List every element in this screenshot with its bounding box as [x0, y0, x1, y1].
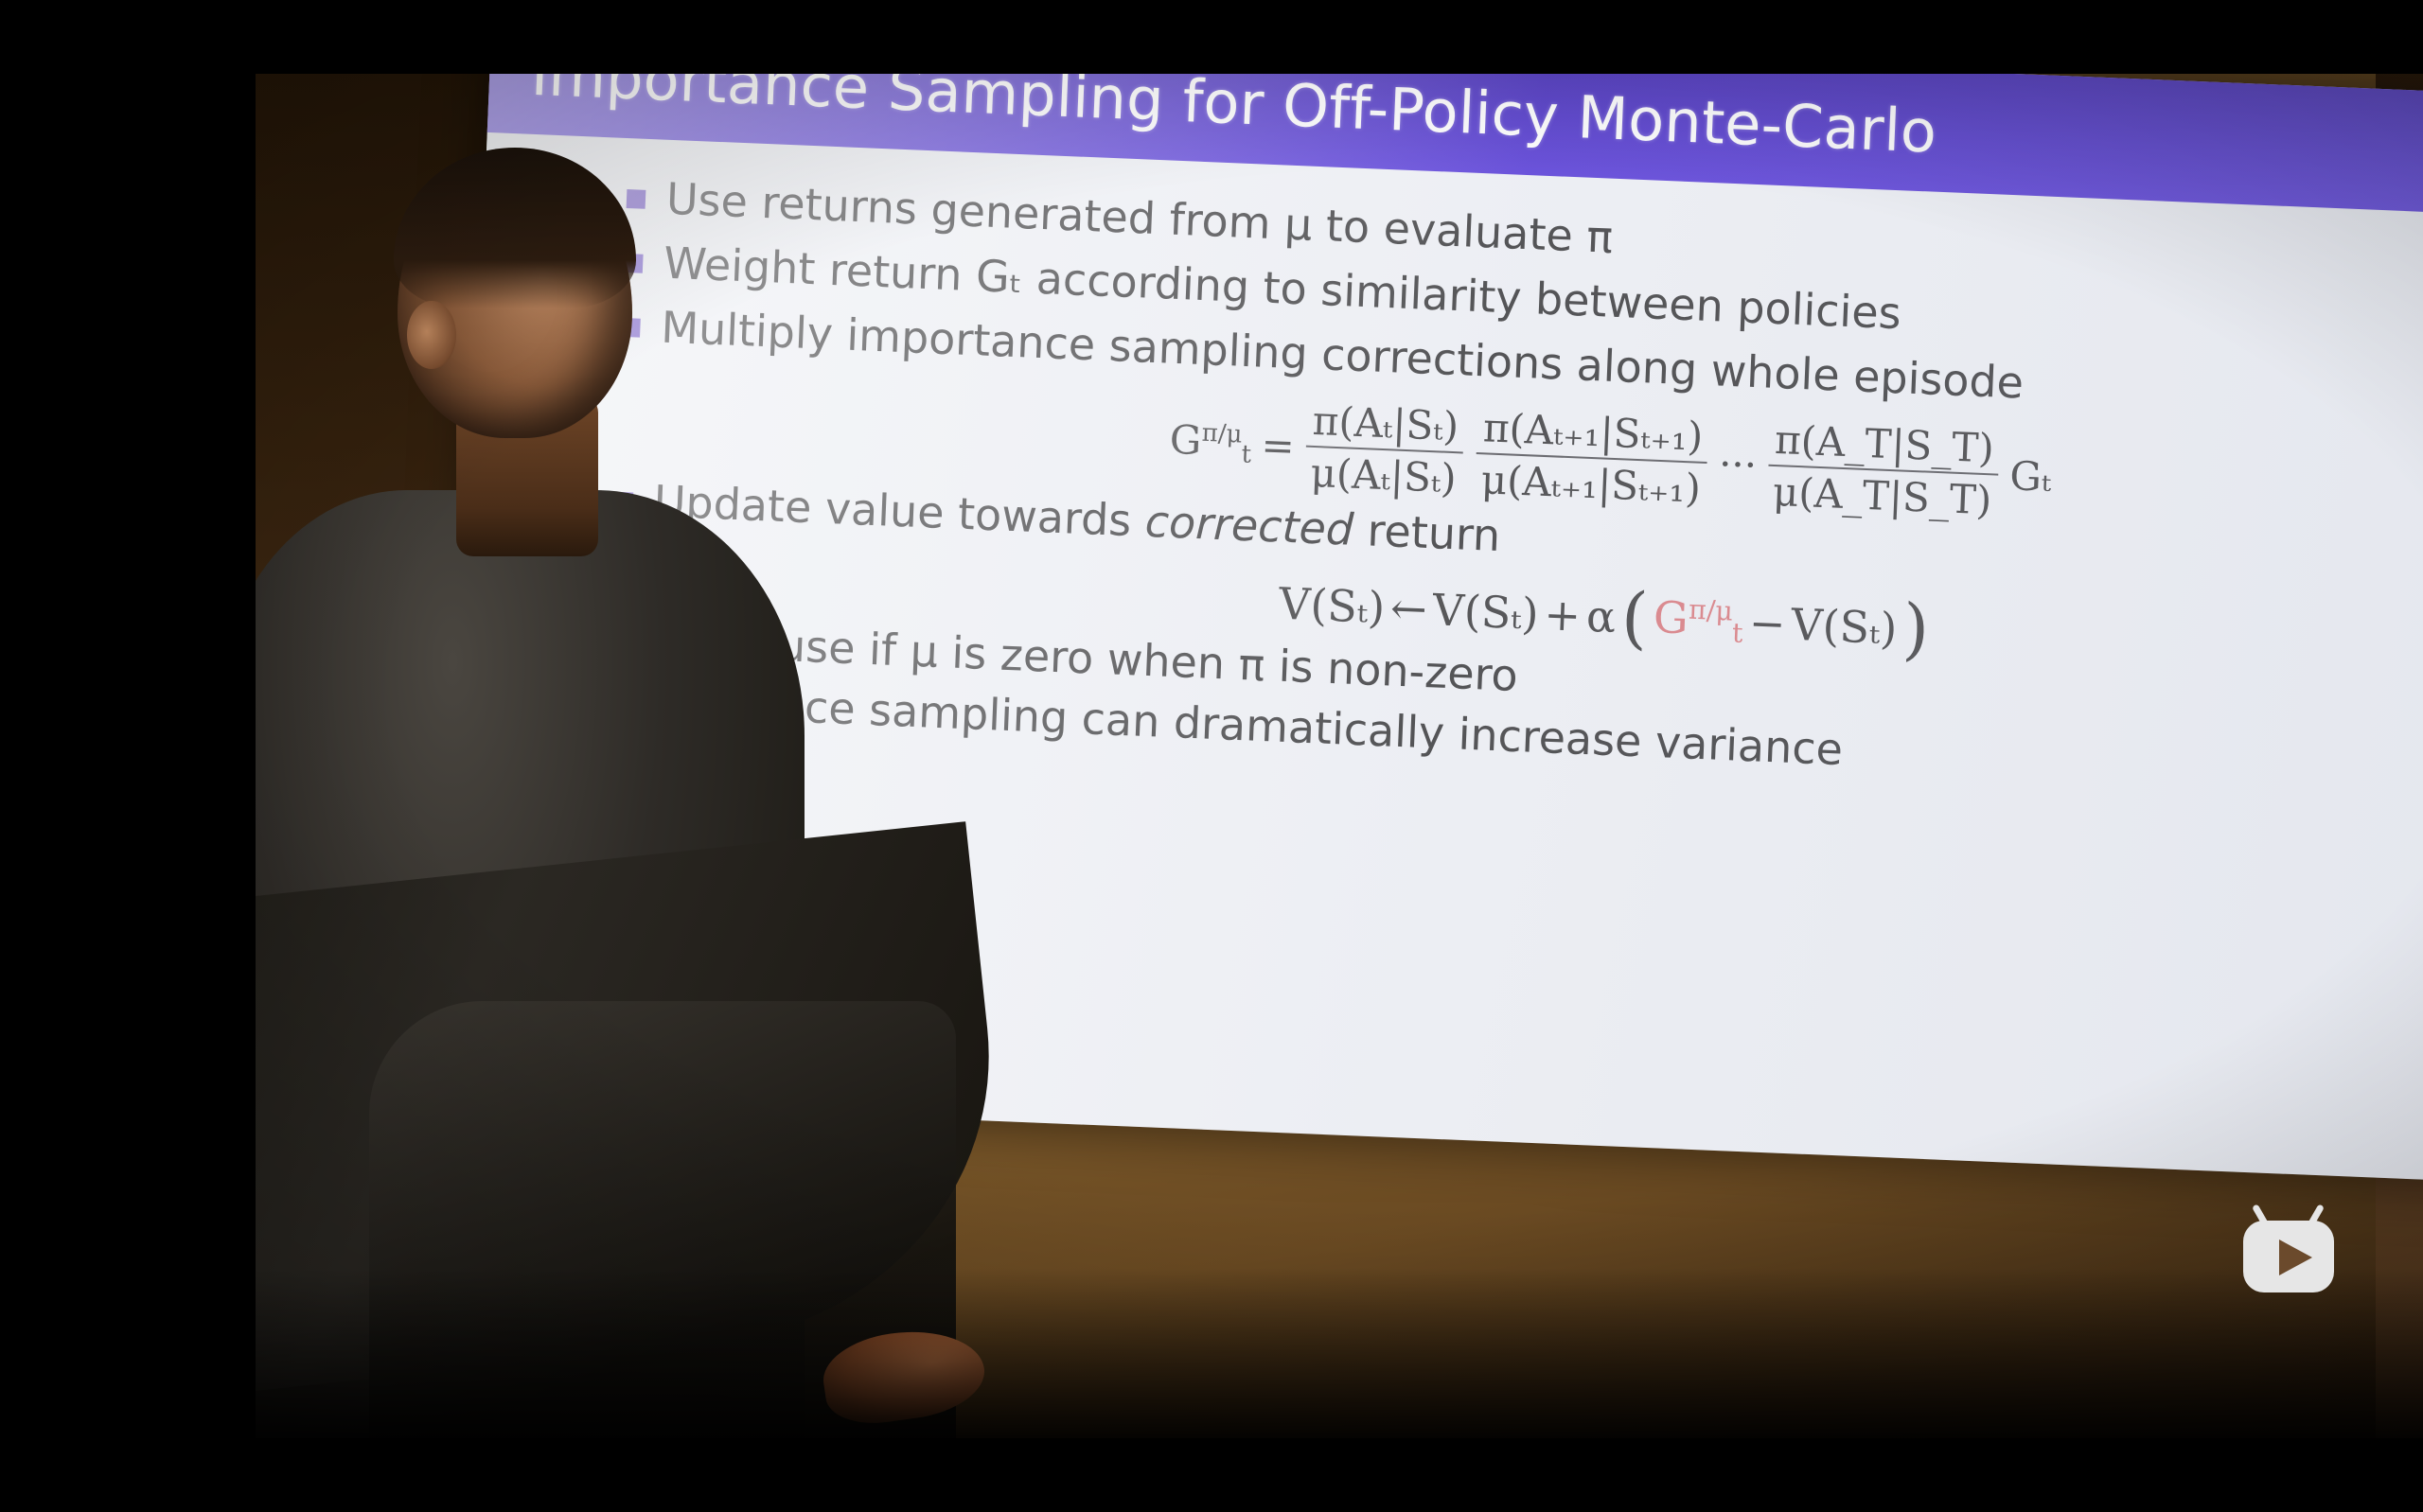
equation1-factor-3-denominator: μ(A_T|S_T) — [1766, 465, 1998, 524]
bullet-square-icon — [624, 254, 644, 273]
equation2-close-paren: ) — [1901, 602, 1930, 657]
equation1-factor-1-denominator: μ(Aₜ|Sₜ) — [1304, 446, 1463, 502]
bullet-square-icon — [621, 318, 641, 338]
projection-screen: Importance Sampling for Off-Policy Monte… — [448, 74, 2423, 1187]
screenshot-root: Importance Sampling for Off-Policy Monte… — [0, 0, 2423, 1512]
letterbox-bottom — [0, 1438, 2423, 1512]
letterbox-top — [0, 0, 2423, 74]
equation1-relation: = — [1261, 422, 1296, 469]
equation1-factor-1: π(Aₜ|Sₜ) μ(Aₜ|Sₜ) — [1304, 397, 1465, 502]
slide-body: Use returns generated from μ to evaluate… — [448, 132, 2423, 1187]
equation1-trailing: Gₜ — [2008, 452, 2052, 501]
equation1-factor-3: π(A_T|S_T) μ(A_T|S_T) — [1766, 416, 2001, 524]
equation1-ellipsis: ··· — [1718, 440, 1758, 488]
equation2-alpha: α — [1585, 590, 1617, 642]
equation2-term1: V(Sₜ) — [1432, 584, 1540, 640]
video-frame[interactable]: Importance Sampling for Off-Policy Monte… — [256, 74, 2423, 1438]
equation2-minus: − — [1748, 597, 1787, 650]
equation2-corrected-return: Gπ/μt — [1653, 591, 1744, 649]
equation1-factor-2-denominator: μ(Aₜ₊₁|Sₜ₊₁) — [1475, 452, 1707, 512]
letterbox-left — [0, 0, 256, 1512]
equation1-factor-1-numerator: π(Aₜ|Sₜ) — [1306, 397, 1465, 452]
equation1-lhs: Gπ/μt — [1169, 416, 1253, 469]
equation2-plus: + — [1543, 589, 1582, 642]
equation2-arrow: ← — [1389, 582, 1428, 635]
bullet-square-icon — [627, 189, 646, 209]
equation2-term2: V(Sₜ) — [1790, 599, 1898, 655]
equation2-lhs: V(Sₜ) — [1278, 578, 1386, 634]
equation2-open-paren: ( — [1620, 590, 1649, 645]
equation1-factor-2: π(Aₜ₊₁|Sₜ₊₁) μ(Aₜ₊₁|Sₜ₊₁) — [1475, 404, 1709, 512]
tv-play-icon[interactable] — [2232, 1196, 2345, 1300]
bullet-square-icon — [613, 492, 633, 512]
